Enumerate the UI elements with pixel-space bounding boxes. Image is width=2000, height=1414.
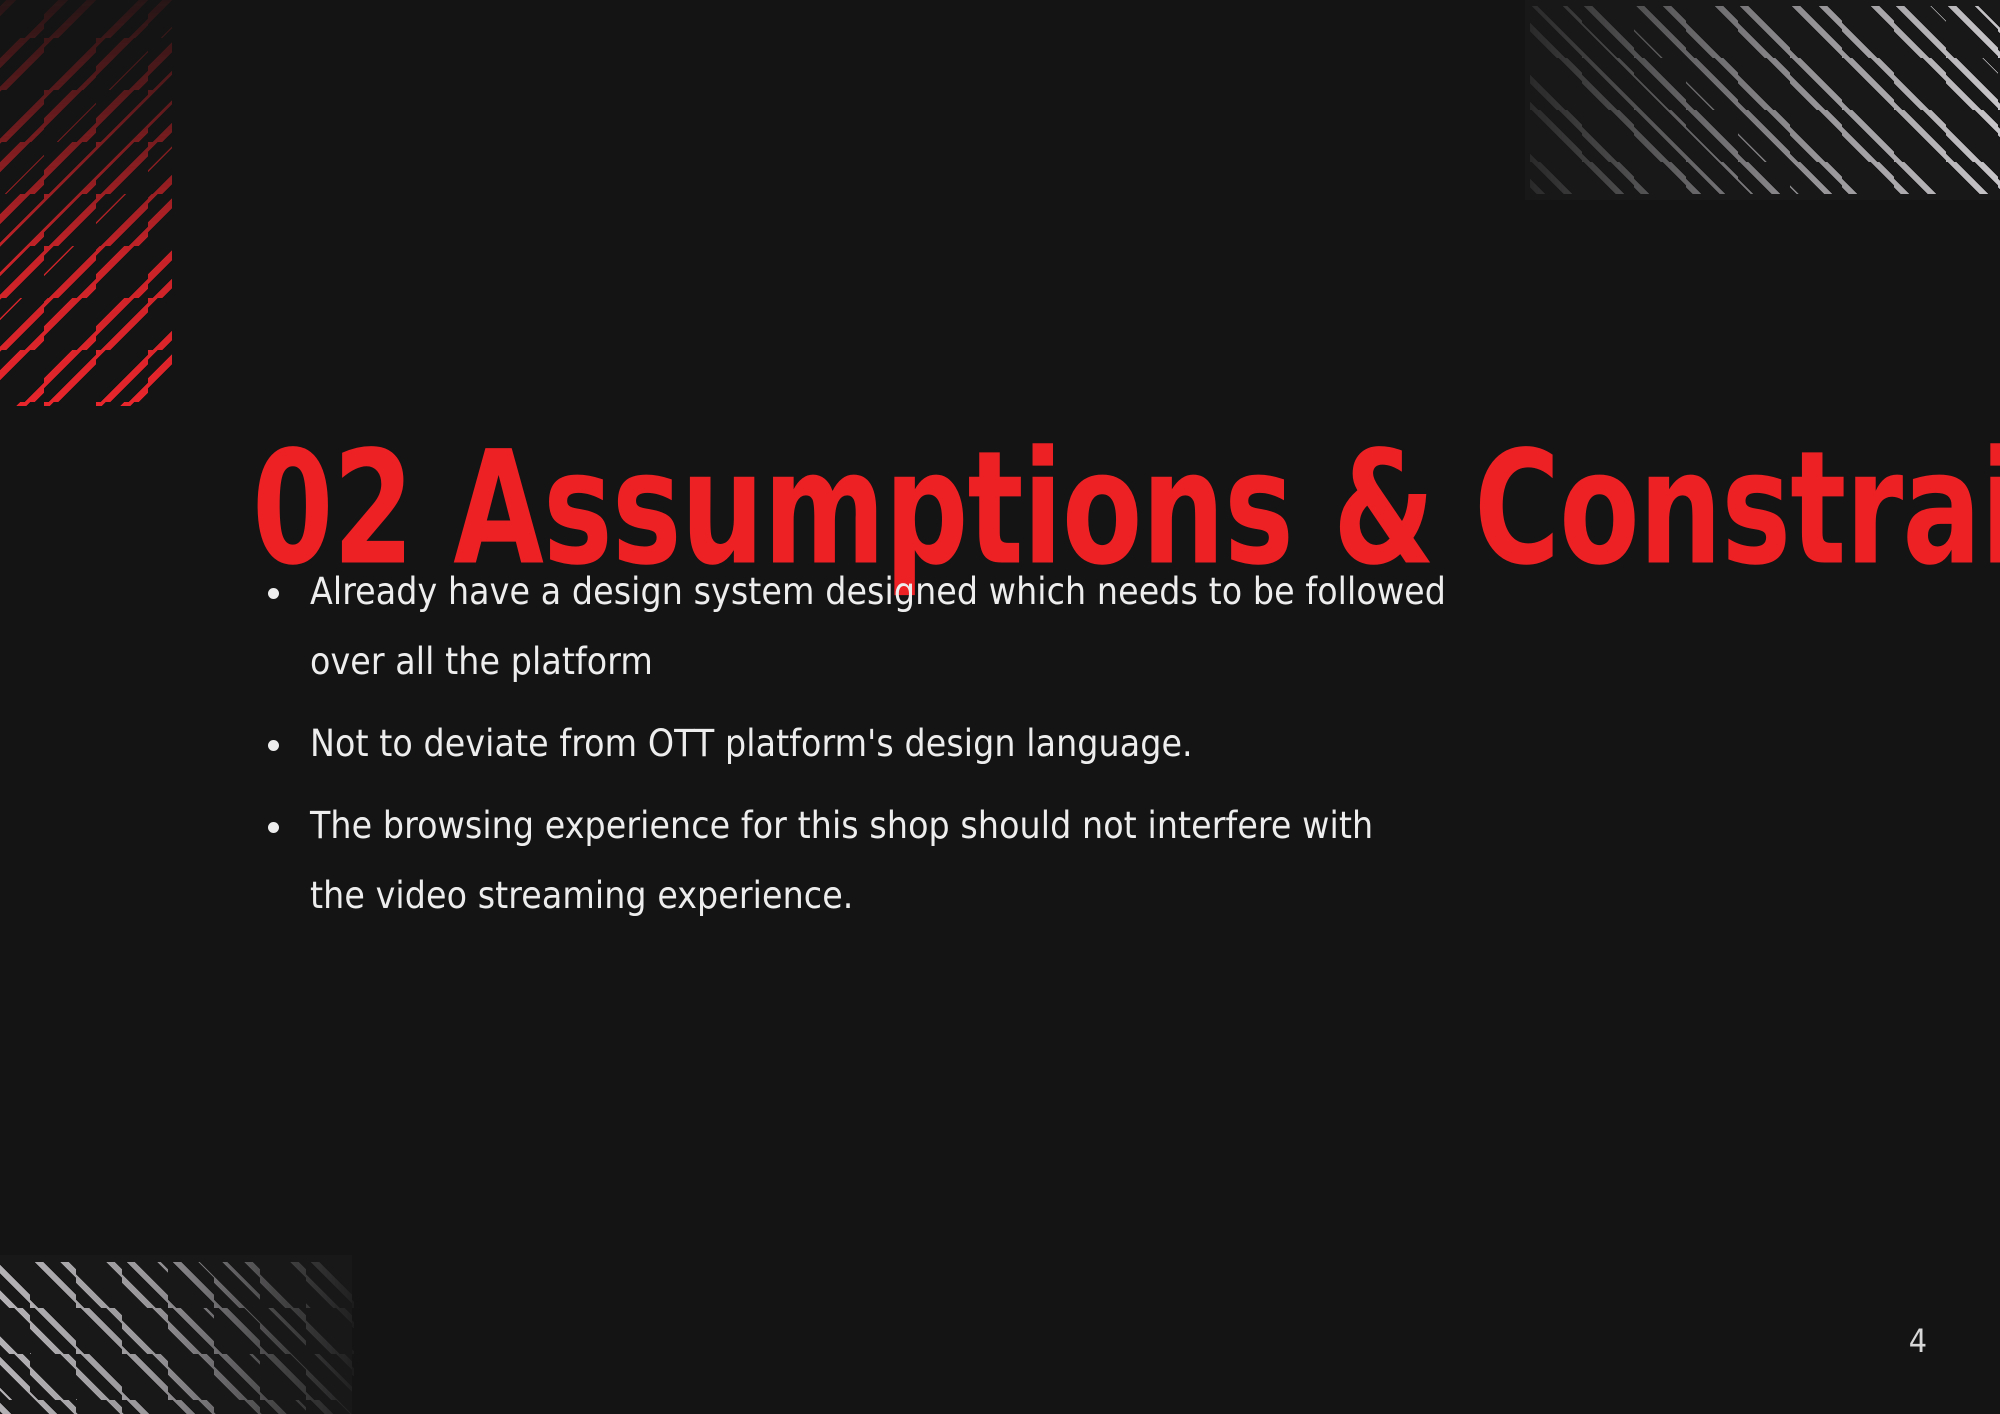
bullet-point-icon xyxy=(268,588,279,599)
page-number: 4 xyxy=(1909,1325,1927,1357)
bullet-point-icon xyxy=(268,740,279,751)
presentation-slide: 02 Assumptions & Constraints Already hav… xyxy=(0,0,2000,1414)
list-item: Not to deviate from OTT platform's desig… xyxy=(258,709,1718,779)
list-item-label: Not to deviate from OTT platform's desig… xyxy=(310,709,1630,779)
decor-panel-bottom-left xyxy=(0,1255,352,1414)
list-item-label: Already have a design system designed wh… xyxy=(310,557,1495,697)
diagonal-stripes-top-right-icon xyxy=(1530,6,2000,194)
diagonal-stripes-top-left-icon xyxy=(0,0,172,406)
list-item: The browsing experience for this shop sh… xyxy=(258,791,1718,931)
list-item: Already have a design system designed wh… xyxy=(258,557,1718,697)
bullet-list: Already have a design system designed wh… xyxy=(258,557,1718,943)
decor-panel-top-right xyxy=(1525,0,2000,200)
diagonal-stripes-bottom-left-icon xyxy=(0,1262,354,1414)
bullet-point-icon xyxy=(268,822,279,833)
list-item-label: The browsing experience for this shop sh… xyxy=(310,791,1410,931)
